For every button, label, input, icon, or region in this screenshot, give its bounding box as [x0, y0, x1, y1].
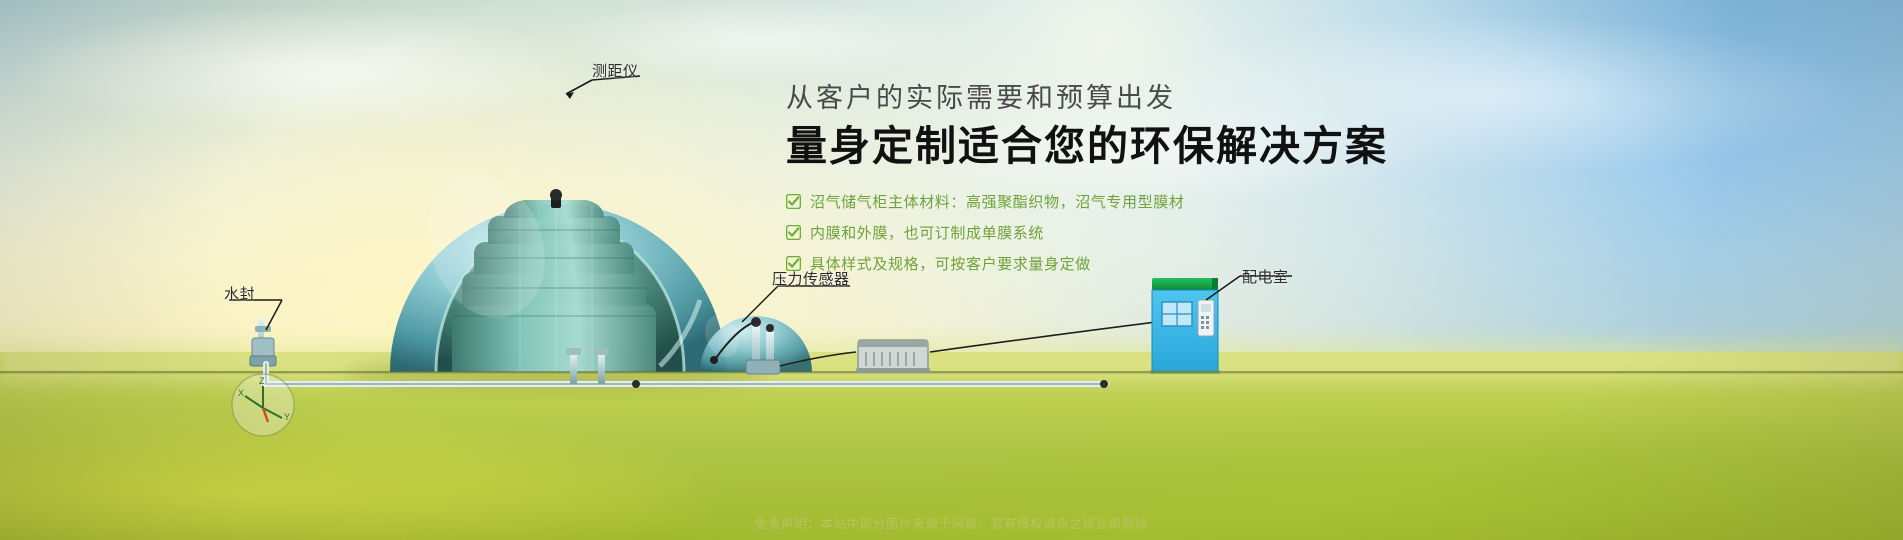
feature-bullet-item: 沼气储气柜主体材料：高强聚酯织物，沼气专用型膜材: [786, 191, 1686, 212]
check-icon: [786, 256, 801, 271]
axis-gizmo: Z Y X: [228, 370, 298, 440]
disclaimer-text: 免责声明：本站中部分图片来源于网络，若有侵权请告之将立即删除: [0, 513, 1903, 532]
svg-text:Y: Y: [284, 412, 290, 422]
check-icon: [786, 194, 801, 209]
check-icon: [786, 225, 801, 240]
feature-bullet-text: 具体样式及规格，可按客户要求量身定做: [810, 253, 1091, 274]
feature-bullet-item: 内膜和外膜，也可订制成单膜系统: [786, 222, 1686, 243]
copy-headline: 量身定制适合您的环保解决方案: [786, 122, 1686, 171]
marketing-copy-block: 从客户的实际需要和预算出发 量身定制适合您的环保解决方案 沼气储气柜主体材料：高…: [786, 82, 1686, 284]
label-water-seal: 水封: [224, 283, 255, 304]
feature-bullet-text: 内膜和外膜，也可订制成单膜系统: [810, 222, 1044, 243]
copy-subtitle: 从客户的实际需要和预算出发: [786, 82, 1686, 116]
svg-text:Z: Z: [259, 376, 265, 386]
banner-stage: Z Y X 测距仪 水封 压力传感器 配电室 从客户的实际需要和预算出发 量身定…: [0, 0, 1903, 540]
svg-text:X: X: [238, 388, 244, 398]
label-rangefinder: 测距仪: [592, 60, 639, 81]
feature-bullet-item: 具体样式及规格，可按客户要求量身定做: [786, 253, 1686, 274]
feature-bullet-text: 沼气储气柜主体材料：高强聚酯织物，沼气专用型膜材: [810, 191, 1184, 212]
feature-bullet-list: 沼气储气柜主体材料：高强聚酯织物，沼气专用型膜材 内膜和外膜，也可订制成单膜系统: [786, 191, 1686, 274]
